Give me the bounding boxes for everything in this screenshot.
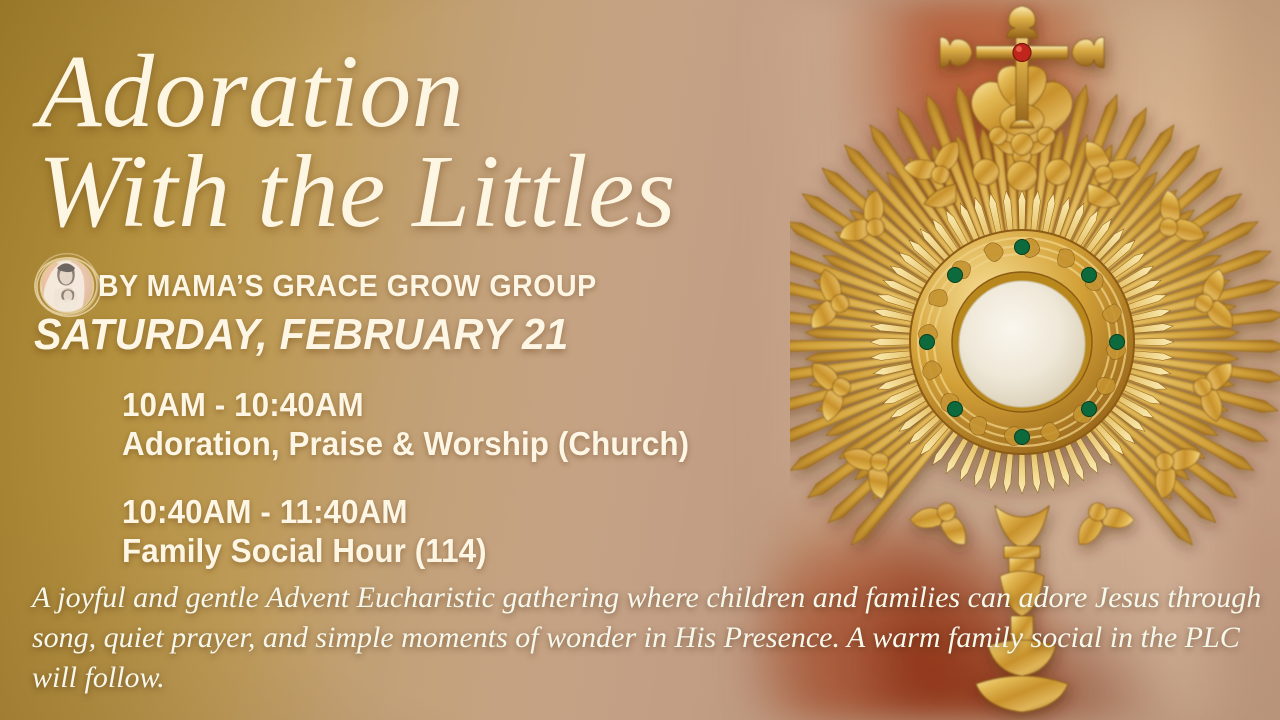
schedule-item-activity: Family Social Hour (114) bbox=[122, 532, 844, 571]
schedule-item-activity: Adoration, Praise & Worship (Church) bbox=[122, 425, 844, 464]
schedule-item-time: 10:40AM - 11:40AM bbox=[122, 493, 844, 532]
schedule-list: 10AM - 10:40AM Adoration, Praise & Worsh… bbox=[122, 386, 882, 600]
event-poster: Adoration With the Littles bbox=[0, 0, 1280, 720]
page-title-line1: Adoration bbox=[38, 40, 464, 144]
event-date: SATURDAY, FEBRUARY 21 bbox=[34, 310, 569, 360]
event-description: A joyful and gentle Advent Eucharistic g… bbox=[32, 578, 1262, 698]
schedule-item: 10:40AM - 11:40AM Family Social Hour (11… bbox=[122, 493, 882, 570]
page-title-line2: With the Littles bbox=[38, 140, 676, 244]
schedule-item-time: 10AM - 10:40AM bbox=[122, 386, 844, 425]
schedule-item: 10AM - 10:40AM Adoration, Praise & Worsh… bbox=[122, 386, 882, 463]
byline-text: BY MAMA’S GRACE GROW GROUP bbox=[98, 268, 597, 304]
poster-content: Adoration With the Littles bbox=[0, 0, 1280, 720]
